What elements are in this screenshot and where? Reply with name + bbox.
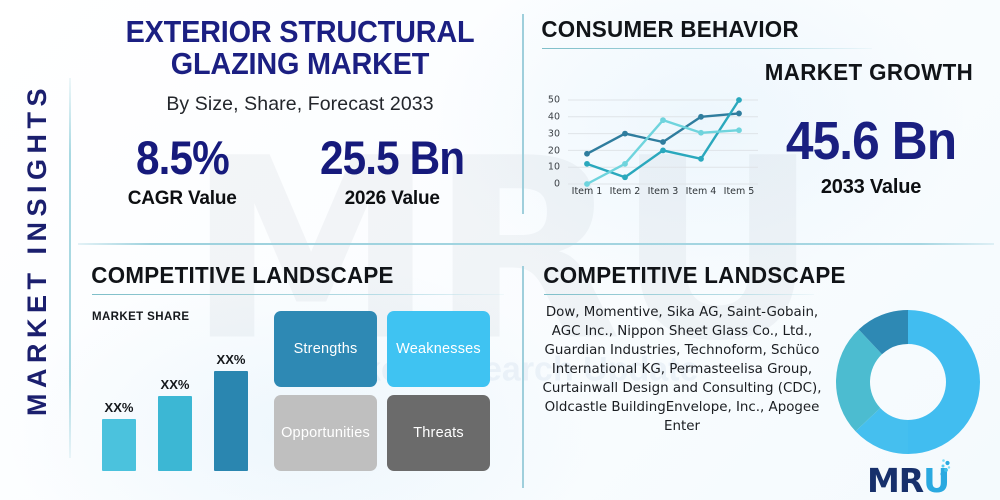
line-chart-ytick: 40 bbox=[544, 112, 564, 123]
stat-cagr-value: 8.5% bbox=[133, 134, 231, 181]
market-share-bar-label: XX% bbox=[161, 377, 190, 392]
competitive-left-body: MARKET SHARE XX%XX%XX% StrengthsWeakness… bbox=[78, 311, 522, 471]
donut-block: MRU Market Research Update bbox=[822, 303, 994, 500]
side-divider bbox=[69, 78, 71, 458]
swot-cell-opportunities[interactable]: Opportunities bbox=[274, 395, 377, 471]
stat-2026: 25.5 Bn 2026 Value bbox=[312, 134, 472, 210]
consumer-behavior-heading: CONSUMER BEHAVIOR bbox=[530, 4, 971, 43]
competitive-left-heading: COMPETITIVE LANDSCAPE bbox=[78, 252, 500, 289]
brand-logo: MRU Market Research Update bbox=[827, 464, 989, 500]
line-chart-ytick: 30 bbox=[544, 128, 564, 139]
line-chart-xtick: Item 3 bbox=[644, 186, 682, 197]
market-share-bar-label: XX% bbox=[217, 352, 246, 367]
line-chart-xtick: Item 2 bbox=[606, 186, 644, 197]
line-chart-ytick: 50 bbox=[544, 95, 564, 106]
competitive-landscape-left-panel: COMPETITIVE LANDSCAPE MARKET SHARE XX%XX… bbox=[78, 252, 522, 496]
donut-chart bbox=[833, 307, 983, 462]
line-chart-xtick: Item 4 bbox=[682, 186, 720, 197]
competitive-right-heading: COMPETITIVE LANDSCAPE bbox=[530, 252, 971, 289]
stat-cagr: 8.5% CAGR Value bbox=[128, 134, 237, 210]
consumer-behavior-rule bbox=[542, 48, 872, 49]
market-growth-value: 45.6 Bn bbox=[767, 114, 975, 168]
line-chart-xtick: Item 5 bbox=[720, 186, 758, 197]
page-title: EXTERIOR STRUCTURAL GLAZING MARKET bbox=[94, 4, 507, 79]
competitive-left-rule bbox=[92, 294, 504, 295]
headline-stats: 8.5% CAGR Value 25.5 Bn 2026 Value bbox=[78, 134, 522, 210]
swot-cell-threats[interactable]: Threats bbox=[387, 395, 490, 471]
line-chart-xtick: Item 1 bbox=[568, 186, 606, 197]
consumer-behavior-panel: CONSUMER BEHAVIOR MARKET GROWTH 01020304… bbox=[530, 4, 994, 234]
line-chart-ytick: 10 bbox=[544, 162, 564, 173]
competitive-right-body: Dow, Momentive, Sika AG, Saint-Gobain, A… bbox=[530, 303, 994, 500]
logo-bubbles-icon bbox=[938, 458, 952, 478]
line-chart-ytick: 20 bbox=[544, 145, 564, 156]
market-share-bar bbox=[158, 396, 192, 472]
market-growth-label: 2033 Value bbox=[758, 176, 984, 199]
logo-wordmark: MRU bbox=[867, 464, 949, 497]
swot-cell-strengths[interactable]: Strengths bbox=[274, 311, 377, 387]
market-share-bar-group: XX% bbox=[102, 400, 136, 472]
market-share-bar-group: XX% bbox=[214, 352, 248, 472]
horizontal-divider bbox=[78, 243, 994, 245]
line-chart-ytick: 0 bbox=[544, 179, 564, 190]
competitive-landscape-right-panel: COMPETITIVE LANDSCAPE Dow, Momentive, Si… bbox=[530, 252, 994, 496]
market-share-bar bbox=[214, 371, 248, 472]
vertical-divider-top bbox=[522, 14, 524, 214]
market-share-bar-group: XX% bbox=[158, 377, 192, 472]
infographic-canvas: MRU Market Research Update MARKET INSIGH… bbox=[0, 0, 1000, 500]
market-growth-heading: MARKET GROWTH bbox=[553, 59, 994, 86]
market-growth-stat: 45.6 Bn 2033 Value bbox=[758, 96, 994, 199]
market-share-bar-chart: XX%XX%XX% bbox=[92, 325, 274, 471]
line-chart-xlabels: Item 1Item 2Item 3Item 4Item 5 bbox=[568, 186, 758, 197]
line-chart-container: 01020304050Item 1Item 2Item 3Item 4Item … bbox=[530, 96, 758, 208]
market-share-block: MARKET SHARE XX%XX%XX% bbox=[78, 311, 274, 471]
swot-grid: StrengthsWeaknessesOpportunitiesThreats bbox=[274, 311, 490, 471]
page-subtitle: By Size, Share, Forecast 2033 bbox=[78, 93, 522, 116]
swot-cell-weaknesses[interactable]: Weaknesses bbox=[387, 311, 490, 387]
line-chart: 01020304050Item 1Item 2Item 3Item 4Item … bbox=[544, 96, 766, 208]
side-title-label: MARKET INSIGHTS bbox=[22, 83, 53, 416]
header-panel: EXTERIOR STRUCTURAL GLAZING MARKET By Si… bbox=[78, 4, 522, 234]
consumer-behavior-body: 01020304050Item 1Item 2Item 3Item 4Item … bbox=[530, 96, 994, 208]
stat-2026-label: 2026 Value bbox=[312, 188, 472, 210]
company-list: Dow, Momentive, Sika AG, Saint-Gobain, A… bbox=[530, 303, 822, 500]
vertical-divider-bottom bbox=[522, 266, 524, 488]
logo-mark-left: MR bbox=[867, 461, 923, 500]
competitive-right-rule bbox=[544, 294, 814, 295]
market-share-bar bbox=[102, 419, 136, 472]
side-title: MARKET INSIGHTS bbox=[6, 0, 68, 500]
market-share-bar-label: XX% bbox=[105, 400, 134, 415]
stat-cagr-label: CAGR Value bbox=[128, 188, 237, 210]
stat-2026-value: 25.5 Bn bbox=[320, 134, 464, 181]
market-share-caption: MARKET SHARE bbox=[92, 311, 274, 323]
